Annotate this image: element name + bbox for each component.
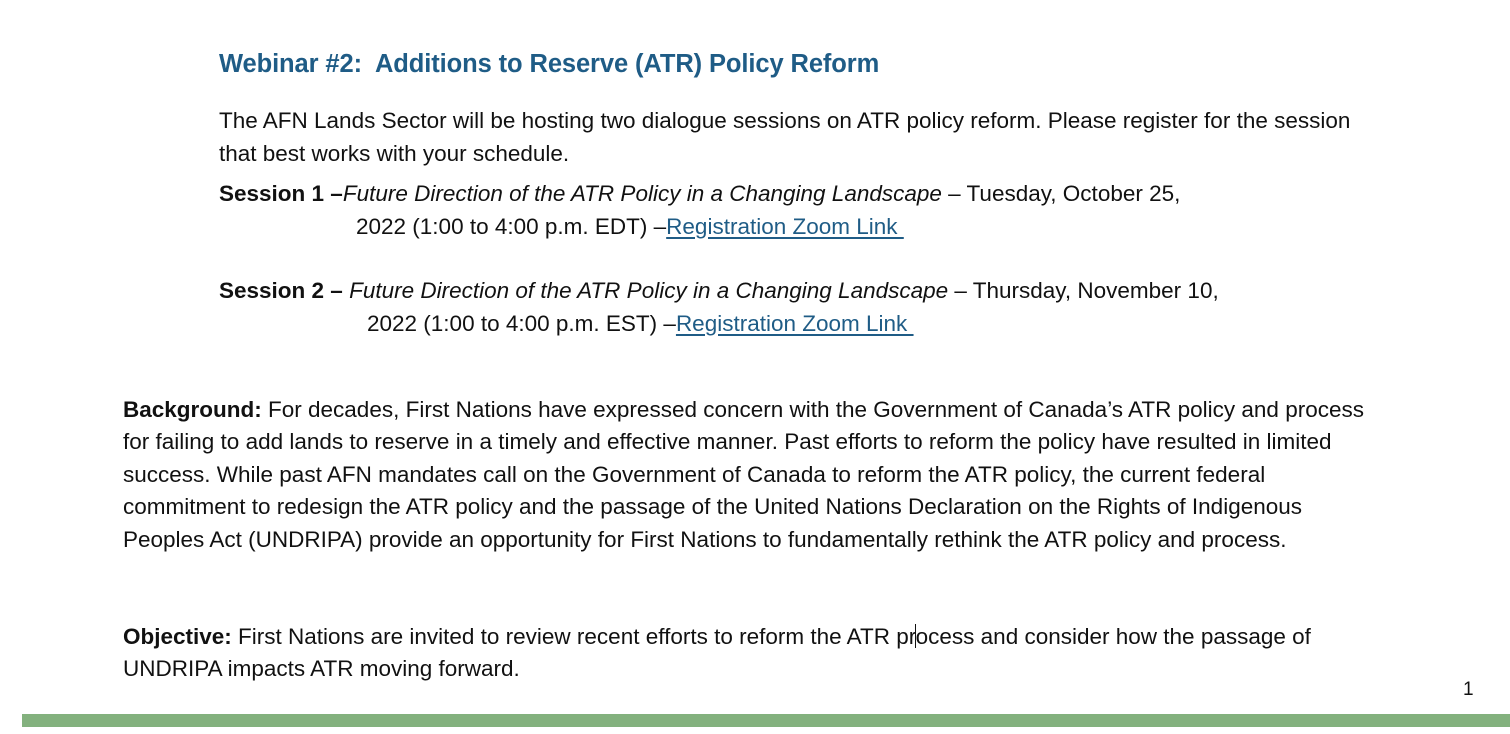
objective-label: Objective: bbox=[123, 624, 232, 649]
page-title: Webinar #2: Additions to Reserve (ATR) P… bbox=[219, 50, 879, 79]
session-1-title: Future Direction of the ATR Policy in a … bbox=[343, 181, 942, 206]
session-1-block: Session 1 –Future Direction of the ATR P… bbox=[219, 177, 1404, 243]
background-paragraph: Background: For decades, First Nations h… bbox=[123, 394, 1388, 557]
session-2-time: 2022 (1:00 to 4:00 p.m. EST) – bbox=[367, 311, 676, 336]
document-page: Webinar #2: Additions to Reserve (ATR) P… bbox=[0, 0, 1510, 734]
background-text: For decades, First Nations have expresse… bbox=[123, 397, 1364, 552]
session-2-block: Session 2 – Future Direction of the ATR … bbox=[219, 274, 1404, 340]
page-left-edge bbox=[0, 690, 22, 734]
background-label: Background: bbox=[123, 397, 262, 422]
session-1-continuation-line: 2022 (1:00 to 4:00 p.m. EDT) –Registrati… bbox=[219, 210, 1404, 243]
objective-text-before-cursor: First Nations are invited to review rece… bbox=[232, 624, 916, 649]
session-1-label: Session 1 – bbox=[219, 181, 343, 206]
footer-rule bbox=[22, 714, 1510, 727]
session-1-time: 2022 (1:00 to 4:00 p.m. EDT) – bbox=[356, 214, 666, 239]
session-1-registration-link[interactable]: Registration Zoom Link bbox=[666, 214, 904, 239]
objective-paragraph: Objective: First Nations are invited to … bbox=[123, 621, 1388, 686]
session-2-date: – Thursday, November 10, bbox=[948, 278, 1219, 303]
session-2-continuation-line: 2022 (1:00 to 4:00 p.m. EST) –Registrati… bbox=[219, 307, 1404, 340]
session-2-title: Future Direction of the ATR Policy in a … bbox=[349, 278, 948, 303]
intro-paragraph: The AFN Lands Sector will be hosting two… bbox=[219, 104, 1379, 170]
session-1-date: – Tuesday, October 25, bbox=[942, 181, 1180, 206]
page-number: 1 bbox=[1463, 679, 1474, 701]
session-2-label: Session 2 – bbox=[219, 278, 349, 303]
session-2-registration-link[interactable]: Registration Zoom Link bbox=[676, 311, 914, 336]
